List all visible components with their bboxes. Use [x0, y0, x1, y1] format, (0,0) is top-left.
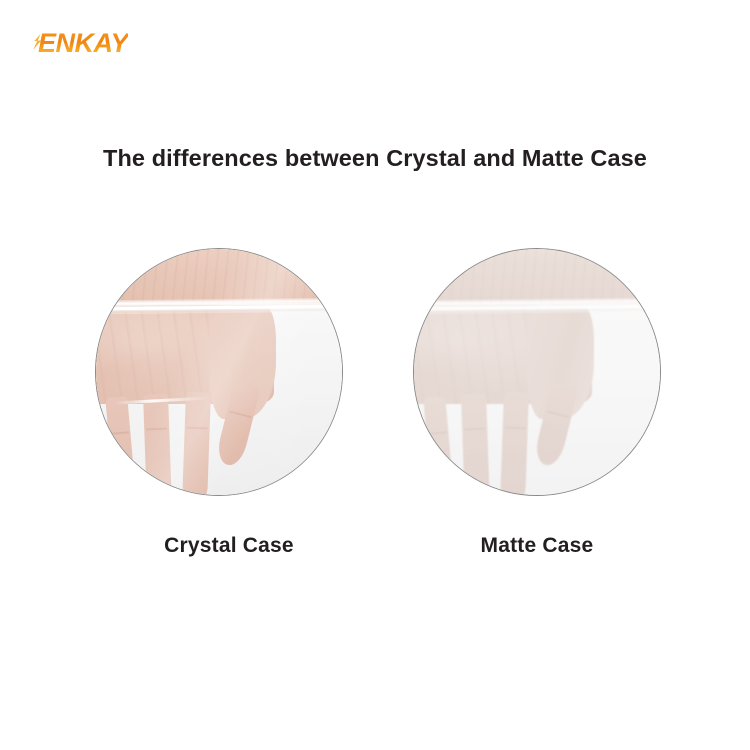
knuckle-line	[464, 428, 485, 431]
finger-3	[182, 391, 211, 496]
wrist-region	[413, 248, 661, 303]
matte-case-photo	[413, 248, 661, 496]
wrist-skin-lines	[95, 248, 343, 303]
brand-wordmark-enkay: ENKAY	[32, 28, 128, 58]
crystal-case-photo	[95, 248, 343, 496]
crystal-case-photo-circle	[95, 248, 343, 496]
caption-crystal-case: Crystal Case	[105, 534, 353, 558]
knuckle-line	[428, 431, 447, 435]
wrist-region	[95, 248, 343, 303]
finger-2	[461, 394, 490, 496]
knuckle-line	[110, 431, 129, 435]
comparison-item-matte	[413, 248, 661, 496]
wrist-skin-lines	[413, 248, 661, 303]
knuckle-line	[229, 411, 252, 418]
knuckle-line	[187, 426, 208, 429]
brand-name-text: ENKAY	[38, 28, 128, 58]
page-title: The differences between Crystal and Matt…	[0, 145, 750, 172]
finger-2	[143, 394, 172, 496]
knuckle-line	[505, 426, 526, 429]
knuckle-line	[146, 428, 167, 431]
knuckle-line	[547, 411, 570, 418]
comparison-item-crystal	[95, 248, 343, 496]
caption-matte-case: Matte Case	[413, 534, 661, 558]
matte-case-photo-circle	[413, 248, 661, 496]
brand-logo: ENKAY	[32, 28, 162, 58]
finger-3	[500, 391, 529, 496]
comparison-row	[0, 248, 750, 498]
bolt-icon	[32, 34, 42, 50]
